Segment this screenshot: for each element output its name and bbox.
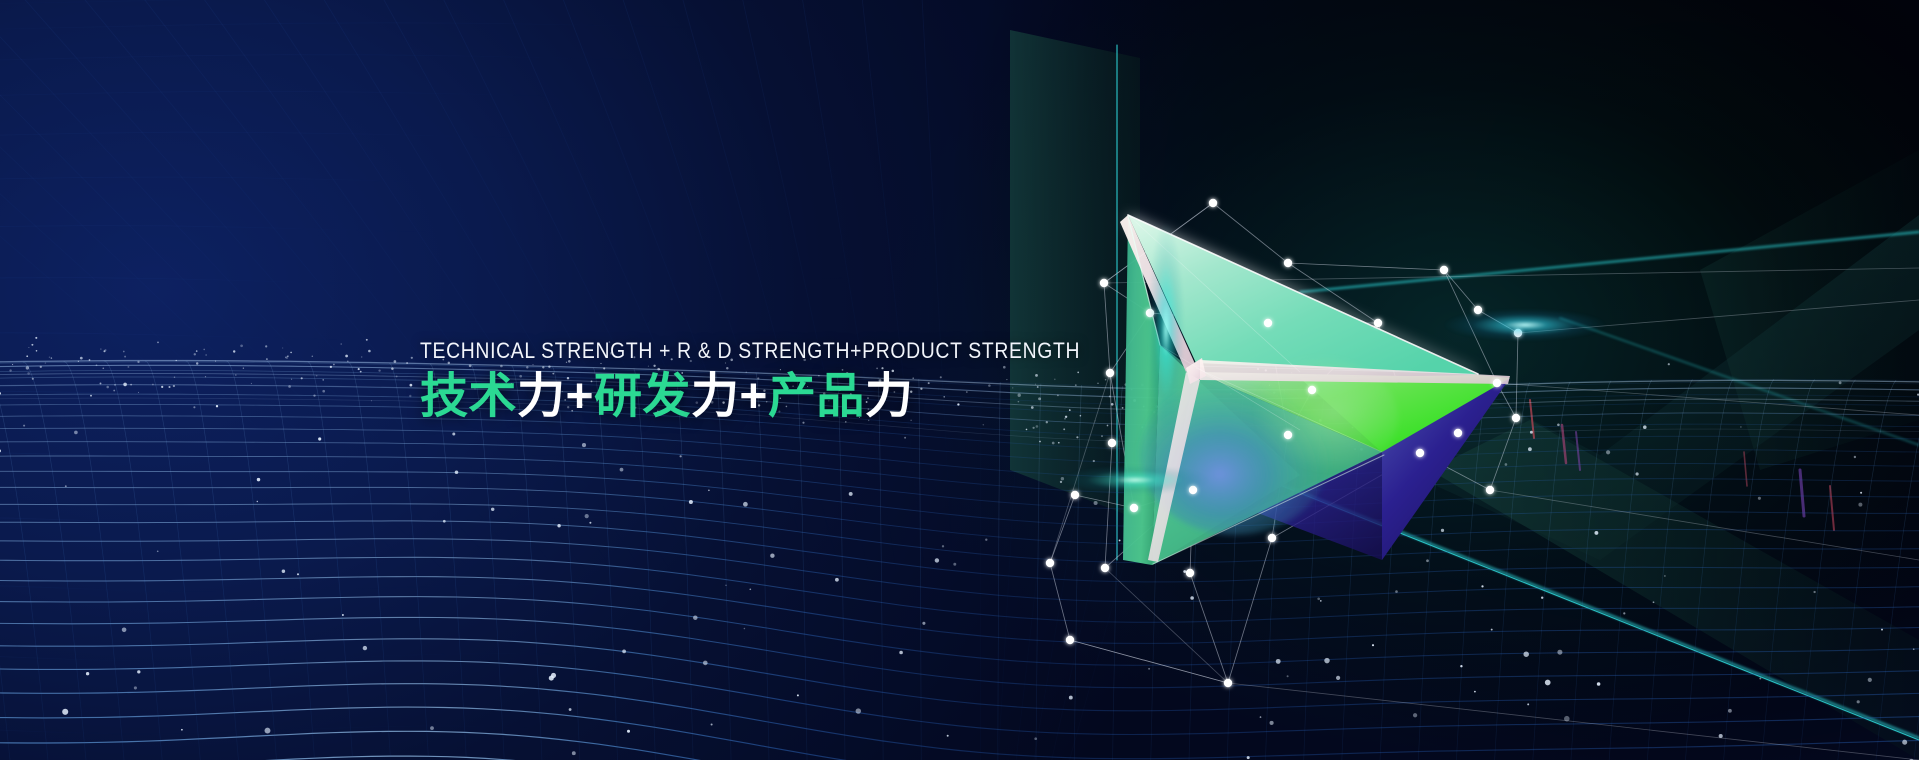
node-dot-icon-4 bbox=[1440, 266, 1448, 274]
headline-seg-white-7: 力 bbox=[865, 370, 913, 423]
node-dot-icon-0 bbox=[1209, 199, 1217, 207]
headline-seg-green-3: 研发 bbox=[594, 370, 691, 423]
node-dot-icon-13 bbox=[1284, 431, 1292, 439]
node-dot-icon-23 bbox=[1512, 414, 1520, 422]
node-dot-icon-19 bbox=[1186, 569, 1194, 577]
hero-banner: TECHNICAL STRENGTH + R & D STRENGTH+PROD… bbox=[0, 0, 1919, 760]
node-dot-icon-18 bbox=[1071, 491, 1079, 499]
node-dot-icon-16 bbox=[1454, 429, 1462, 437]
node-dot-icon-20 bbox=[1046, 559, 1054, 567]
hero-headline: 技术力+研发力+产品力 bbox=[420, 372, 1170, 423]
headline-seg-white-1: 力 bbox=[517, 370, 565, 423]
node-dot-icon-1 bbox=[1284, 259, 1292, 267]
node-dot-icon-17 bbox=[1493, 379, 1501, 387]
headline-seg-plus-2: + bbox=[565, 370, 594, 423]
node-dot-icon-2 bbox=[1100, 279, 1108, 287]
node-dot-icon-7 bbox=[1264, 319, 1272, 327]
node-dot-icon-25 bbox=[1066, 636, 1074, 644]
headline-seg-white-4: 力 bbox=[691, 370, 739, 423]
node-dot-icon-3 bbox=[1146, 309, 1154, 317]
node-dot-icon-15 bbox=[1416, 449, 1424, 457]
node-dot-icon-22 bbox=[1130, 504, 1138, 512]
node-dot-icon-14 bbox=[1308, 386, 1316, 394]
headline-seg-green-0: 技术 bbox=[420, 370, 517, 423]
node-dot-icon-11 bbox=[1101, 564, 1109, 572]
node-dot-icon-6 bbox=[1514, 329, 1522, 337]
node-dot-icon-10 bbox=[1108, 439, 1116, 447]
hero-text-block: TECHNICAL STRENGTH + R & D STRENGTH+PROD… bbox=[420, 340, 1170, 423]
node-dot-icon-8 bbox=[1374, 319, 1382, 327]
node-dot-icon-24 bbox=[1224, 679, 1232, 687]
node-dot-icon-26 bbox=[1486, 486, 1494, 494]
node-dot-icon-21 bbox=[1268, 534, 1276, 542]
hero-eyebrow: TECHNICAL STRENGTH + R & D STRENGTH+PROD… bbox=[420, 340, 1080, 362]
node-dot-icon-5 bbox=[1474, 306, 1482, 314]
node-dot-icon-12 bbox=[1189, 486, 1197, 494]
headline-seg-green-6: 产品 bbox=[768, 370, 865, 423]
headline-seg-plus-5: + bbox=[739, 370, 768, 423]
